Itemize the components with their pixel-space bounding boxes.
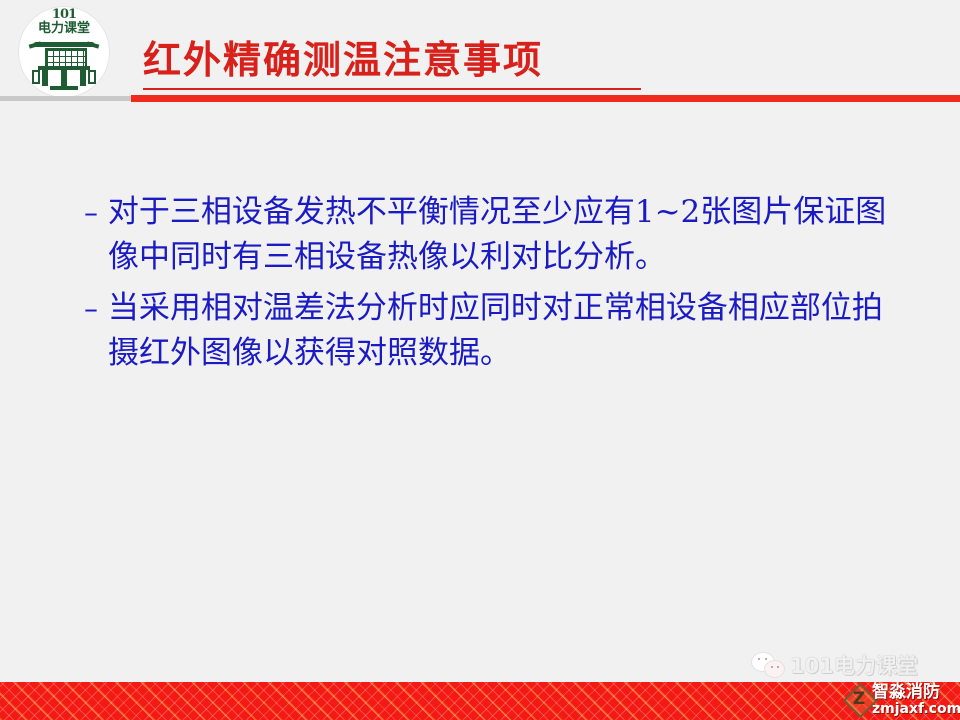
header-divider-gray: [0, 96, 132, 101]
building-wing-left-icon: [32, 70, 40, 84]
slide-title: 红外精确测温注意事项: [143, 38, 543, 82]
zmjaxf-letter-label: Z: [845, 685, 873, 713]
bullet-item: – 当采用相对温差法分析时应同时对正常相设备相应部位拍摄红外图像以获得对照数据。: [0, 286, 960, 376]
bottom-red-band: [0, 682, 960, 720]
building-column-icon: [42, 70, 48, 86]
title-underline: [143, 88, 641, 90]
building-base-icon: [50, 86, 78, 90]
site-watermark-name: 智淼消防: [872, 683, 940, 702]
bullet-marker: –: [84, 196, 98, 229]
wechat-eye-icon: [765, 658, 767, 660]
site-watermark-url: zmjaxf.com: [872, 701, 960, 717]
wechat-account-label: 101电力课堂: [790, 654, 918, 678]
bullet-marker: –: [84, 292, 98, 325]
wechat-eye-icon: [777, 666, 779, 668]
header-divider-red: [131, 95, 960, 102]
building-column-icon: [61, 70, 67, 86]
zmjaxf-logo-icon: Z: [845, 685, 873, 713]
bullet-text: 当采用相对温差法分析时应同时对正常相设备相应部位拍摄红外图像以获得对照数据。: [108, 290, 883, 371]
logo-name-label: 电力课堂: [12, 22, 116, 36]
wechat-eye-icon: [758, 658, 760, 660]
wechat-watermark: 101电力课堂: [752, 650, 902, 682]
slide-body: – 对于三相设备发热不平衡情况至少应有1~2张图片保证图像中同时有三相设备热像以…: [0, 190, 960, 382]
bullet-text: 对于三相设备发热不平衡情况至少应有1~2张图片保证图像中同时有三相设备热像以利对…: [108, 194, 886, 275]
temple-building-icon: [32, 42, 96, 92]
logo-number-label: 101: [12, 8, 116, 21]
course-logo: 101 电力课堂: [12, 4, 116, 100]
wechat-icon: [752, 653, 786, 679]
bullet-item: – 对于三相设备发热不平衡情况至少应有1~2张图片保证图像中同时有三相设备热像以…: [0, 190, 960, 280]
roof-grid-icon: [45, 48, 87, 68]
roof-icon: [34, 42, 94, 47]
slide: 101 电力课堂 红外精确测温注意事项 – 对于三相设备: [0, 0, 960, 720]
building-wing-right-icon: [88, 70, 96, 84]
wechat-bubble-small-icon: [765, 661, 784, 677]
slide-header: 101 电力课堂 红外精确测温注意事项: [0, 0, 960, 104]
building-column-icon: [80, 70, 86, 86]
site-watermark: Z 智淼消防 zmjaxf.com: [845, 682, 960, 720]
wechat-eye-icon: [771, 666, 773, 668]
